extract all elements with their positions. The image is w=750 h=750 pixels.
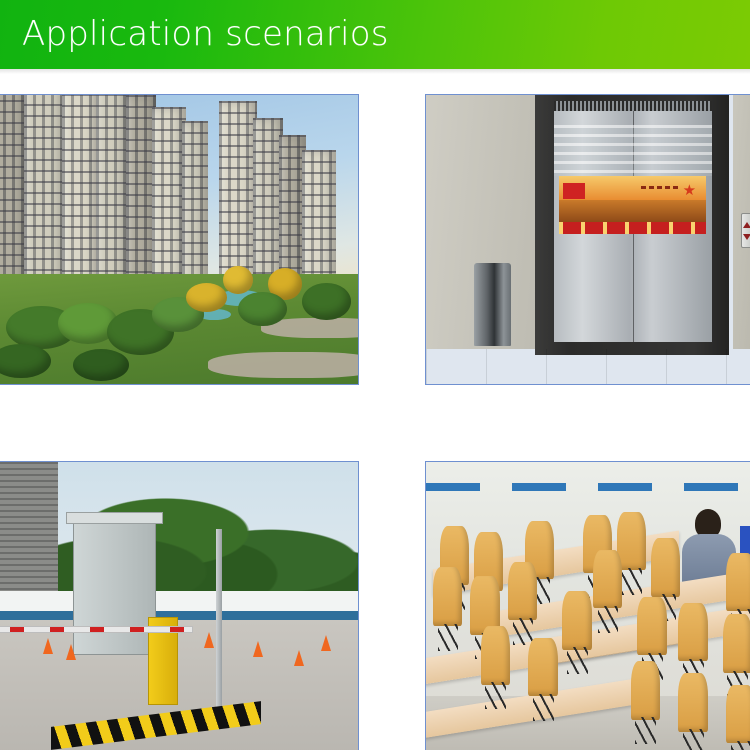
tree	[302, 283, 351, 321]
building	[152, 107, 186, 286]
traffic-cone	[204, 632, 214, 648]
lobby-floor	[426, 349, 750, 384]
canteen-photo	[426, 462, 750, 750]
trash-bin	[474, 263, 512, 347]
path	[208, 352, 358, 378]
dining-chair	[508, 562, 537, 621]
scenario-card-canteen[interactable]: canteen	[425, 461, 750, 750]
traffic-cone	[43, 638, 53, 654]
arrow-up-icon[interactable]	[743, 222, 750, 228]
poster-text	[641, 186, 679, 189]
dining-chair	[723, 614, 750, 673]
dining-chair	[637, 597, 666, 656]
housing-photo	[0, 95, 358, 384]
poster-red-band	[559, 222, 706, 234]
elevator-call-panel[interactable]	[741, 213, 750, 248]
barrier-boom-arm	[0, 626, 193, 633]
elevator-poster	[559, 176, 706, 222]
scenario-card-parking[interactable]: Parking lot	[0, 461, 359, 750]
booth-roof	[66, 512, 163, 524]
dining-chair	[528, 638, 557, 697]
dining-chair	[593, 550, 622, 609]
tree-autumn	[186, 283, 227, 312]
dining-chair	[617, 512, 646, 571]
dining-chair	[678, 603, 707, 662]
poster-mountains	[559, 200, 706, 222]
building	[62, 95, 100, 286]
scenario-card-housing[interactable]: Housing	[0, 94, 359, 385]
door-reflection	[554, 125, 713, 176]
traffic-cone	[253, 641, 263, 657]
application-scenarios-page: Application scenarios	[0, 0, 750, 750]
building	[0, 462, 58, 600]
dining-chair	[726, 553, 750, 612]
dining-chair	[481, 626, 510, 685]
tree-autumn	[223, 266, 253, 295]
dining-chair	[678, 673, 707, 732]
star-icon	[683, 184, 695, 196]
dining-chair	[726, 685, 750, 744]
dining-chair	[562, 591, 591, 650]
arrow-down-icon[interactable]	[743, 234, 750, 240]
building	[219, 101, 257, 286]
tree	[238, 292, 287, 327]
dining-chair	[651, 538, 680, 597]
guard-booth	[73, 521, 156, 656]
traffic-cone	[321, 635, 331, 651]
traffic-cone	[66, 644, 76, 660]
flag-icon	[563, 183, 585, 199]
scenario-card-elevator[interactable]: Elevator	[425, 94, 750, 385]
building	[24, 95, 65, 286]
parking-photo	[0, 462, 358, 750]
building	[182, 121, 208, 286]
wall-stripe	[426, 483, 750, 492]
dining-chair	[433, 567, 462, 626]
perimeter-wall	[0, 591, 358, 623]
scenario-grid: Housing	[0, 0, 750, 750]
building	[96, 95, 130, 286]
building	[302, 150, 336, 286]
camera-pole	[216, 529, 222, 722]
tree	[73, 349, 129, 381]
dining-chair	[631, 661, 660, 720]
elevator-photo	[426, 95, 750, 384]
traffic-cone	[294, 650, 304, 666]
